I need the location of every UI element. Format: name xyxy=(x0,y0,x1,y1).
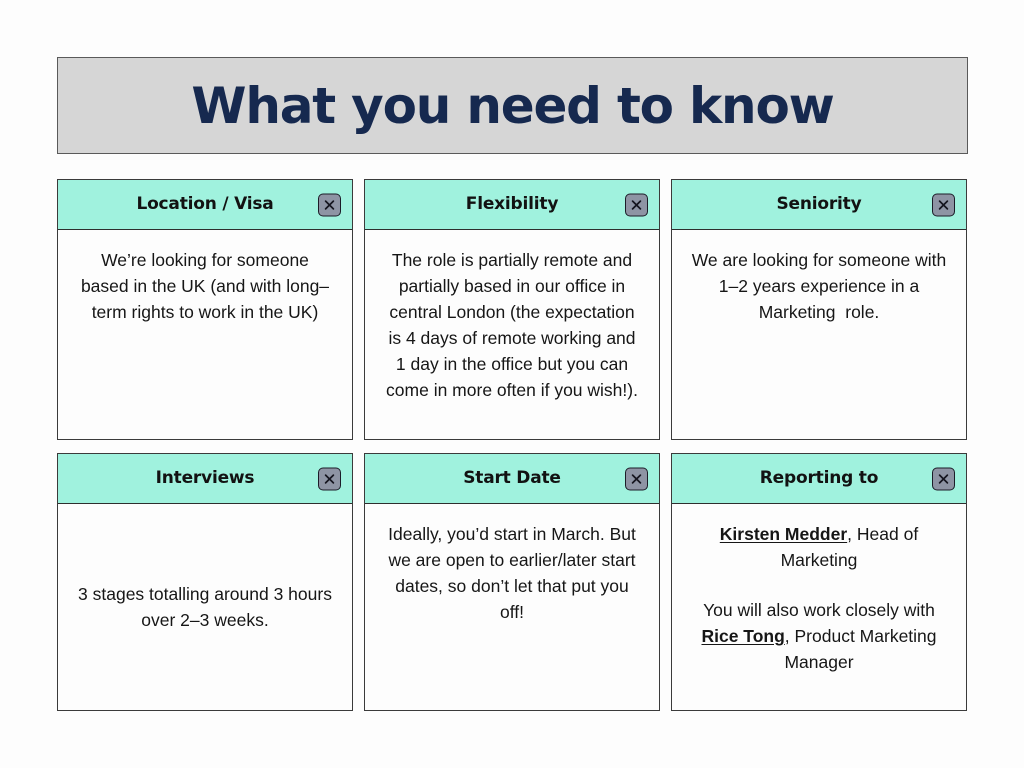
card-body-seniority: We are looking for someone with 1–2 year… xyxy=(672,230,966,439)
card-interviews: Interviews3 stages totalling around 3 ho… xyxy=(57,453,353,711)
slide-canvas: What you need to know Location / VisaWe’… xyxy=(0,0,1024,768)
person-name-link[interactable]: Rice Tong xyxy=(701,626,784,646)
card-body-flexibility: The role is partially remote and partial… xyxy=(365,230,659,439)
card-paragraph: You will also work closely with Rice Ton… xyxy=(690,597,948,675)
person-name-link[interactable]: Kirsten Medder xyxy=(720,524,847,544)
close-button-start-date[interactable] xyxy=(625,467,648,490)
card-title-seniority: Seniority xyxy=(776,196,861,213)
card-start-date: Start DateIdeally, you’d start in March.… xyxy=(364,453,660,711)
card-paragraph: The role is partially remote and partial… xyxy=(383,247,641,403)
card-header-flexibility: Flexibility xyxy=(365,180,659,230)
card-title-flexibility: Flexibility xyxy=(466,196,558,213)
page-title: What you need to know xyxy=(191,81,833,131)
close-x-icon xyxy=(324,473,335,484)
close-x-icon xyxy=(631,473,642,484)
card-grid: Location / VisaWe’re looking for someone… xyxy=(57,179,968,711)
card-body-reporting-to: Kirsten Medder, Head of MarketingYou wil… xyxy=(672,504,966,710)
close-x-icon xyxy=(324,199,335,210)
close-x-icon xyxy=(938,199,949,210)
close-x-icon xyxy=(938,473,949,484)
card-paragraph: Kirsten Medder, Head of Marketing xyxy=(690,521,948,573)
title-banner: What you need to know xyxy=(57,57,968,154)
close-button-interviews[interactable] xyxy=(318,467,341,490)
card-location-visa: Location / VisaWe’re looking for someone… xyxy=(57,179,353,440)
card-seniority: SeniorityWe are looking for someone with… xyxy=(671,179,967,440)
card-body-location-visa: We’re looking for someone based in the U… xyxy=(58,230,352,439)
card-title-start-date: Start Date xyxy=(463,470,561,487)
close-button-location-visa[interactable] xyxy=(318,193,341,216)
paragraph-text-after: , Product Marketing Manager xyxy=(784,626,941,672)
card-body-start-date: Ideally, you’d start in March. But we ar… xyxy=(365,504,659,710)
card-title-interviews: Interviews xyxy=(156,470,255,487)
card-header-interviews: Interviews xyxy=(58,454,352,504)
close-button-seniority[interactable] xyxy=(932,193,955,216)
card-body-interviews: 3 stages totalling around 3 hours over 2… xyxy=(58,504,352,710)
card-header-seniority: Seniority xyxy=(672,180,966,230)
card-title-location-visa: Location / Visa xyxy=(136,196,273,213)
card-paragraph: Ideally, you’d start in March. But we ar… xyxy=(383,521,641,625)
card-header-start-date: Start Date xyxy=(365,454,659,504)
card-header-reporting-to: Reporting to xyxy=(672,454,966,504)
close-button-flexibility[interactable] xyxy=(625,193,648,216)
card-paragraph: We’re looking for someone based in the U… xyxy=(76,247,334,325)
card-paragraph: 3 stages totalling around 3 hours over 2… xyxy=(76,581,334,633)
close-x-icon xyxy=(631,199,642,210)
card-reporting-to: Reporting toKirsten Medder, Head of Mark… xyxy=(671,453,967,711)
card-flexibility: FlexibilityThe role is partially remote … xyxy=(364,179,660,440)
card-header-location-visa: Location / Visa xyxy=(58,180,352,230)
card-paragraph: We are looking for someone with 1–2 year… xyxy=(690,247,948,325)
paragraph-text-before: You will also work closely with xyxy=(703,600,940,620)
close-button-reporting-to[interactable] xyxy=(932,467,955,490)
card-title-reporting-to: Reporting to xyxy=(760,470,878,487)
